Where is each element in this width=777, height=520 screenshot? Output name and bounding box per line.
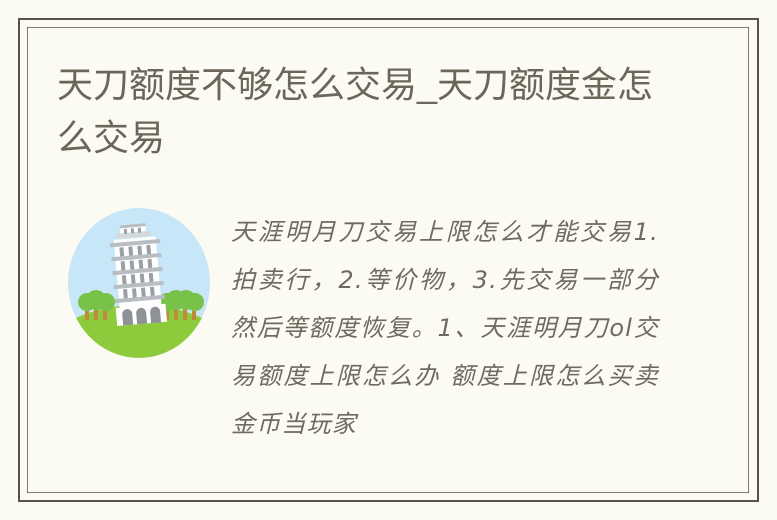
page-title: 天刀额度不够怎么交易_天刀额度金怎么交易 (57, 58, 677, 164)
card-content: 天刀额度不够怎么交易_天刀额度金怎么交易 (0, 0, 777, 520)
leaning-tower-of-pisa-icon (68, 208, 210, 358)
illustration-svg (68, 208, 210, 358)
article-body-text: 天涯明月刀交易上限怎么才能交易1.拍卖行，2.等价物，3.先交易一部分然后等额度… (231, 208, 659, 448)
article-card: 天刀额度不够怎么交易_天刀额度金怎么交易 (0, 0, 777, 520)
article-body-row: 天涯明月刀交易上限怎么才能交易1.拍卖行，2.等价物，3.先交易一部分然后等额度… (57, 200, 677, 460)
